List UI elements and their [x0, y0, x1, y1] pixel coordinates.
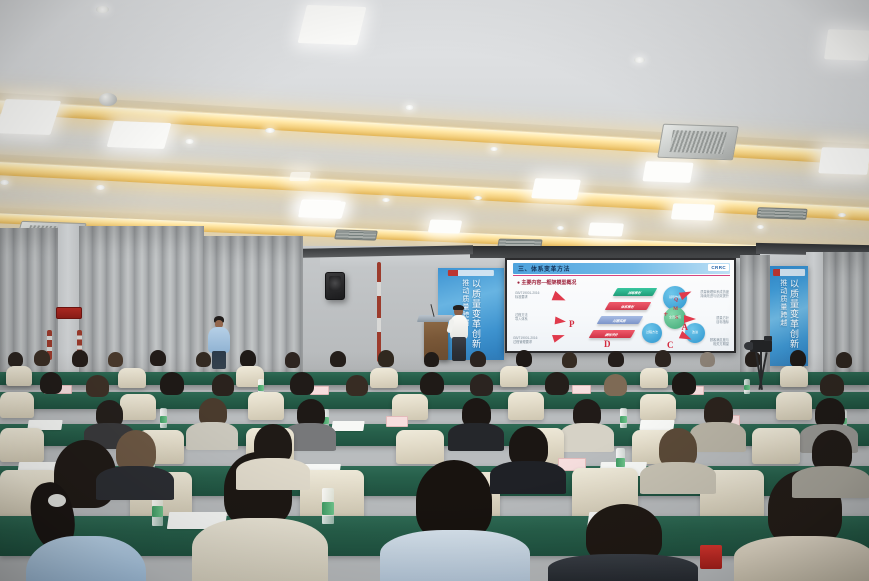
ceiling-panel-light: [824, 29, 869, 61]
ceiling-panel-light: [818, 147, 869, 175]
screen-soffit: [470, 246, 760, 258]
ceiling-panel-light: [428, 219, 463, 233]
presentation-slide: 三、体系变革方法 CRRC ● 主要内容—框架模型概况 GB/T19001-20…: [507, 260, 734, 351]
audience-head: [212, 374, 234, 396]
foreground-person: [548, 504, 698, 581]
ceiling-panel-light: [588, 222, 624, 236]
audience-head: [470, 351, 486, 367]
slide-note-top-right: 质量管理体系成熟度 持续改进与绩效提升: [689, 290, 729, 298]
audience-head: [655, 350, 671, 367]
audience-head: [470, 374, 493, 396]
audience-head: [285, 352, 300, 368]
audience-head: [8, 352, 23, 367]
slide-letter-s: S: [675, 316, 678, 321]
audience-head: [700, 352, 715, 367]
foreground-body: [548, 554, 698, 581]
slide-block-2: 体系策划: [605, 302, 652, 310]
foreground-body: [192, 518, 328, 581]
audience-shoulders: [560, 423, 614, 452]
downlight-icon: [838, 213, 846, 217]
slide-letter-q: Q: [674, 298, 678, 303]
slide-block-3: 过程实施: [597, 316, 644, 324]
audience-head: [545, 372, 569, 395]
chair: [248, 392, 284, 420]
slide-letter-m: M: [673, 307, 678, 312]
audience-head: [40, 372, 62, 394]
conference-hall-photo: 推动质量跨越 以质量变革创新 推动质量跨越 以质量变革创新 三、体系变革方法 C…: [0, 0, 869, 581]
ceiling-panel-light: [289, 172, 311, 181]
lectern-top-surface: [417, 315, 453, 322]
audience-person: [186, 398, 238, 448]
downlight-icon: [474, 196, 482, 200]
ceiling-panel-light: [107, 121, 172, 149]
backdrop-logo: [448, 270, 494, 276]
backdrop-column-2: 以质量变革创新: [471, 279, 481, 358]
red-cup: [700, 545, 722, 569]
audience-head: [346, 375, 368, 396]
ceiling-panel-light: [0, 99, 61, 135]
audience-head: [160, 372, 184, 395]
ceiling-panel-light: [531, 178, 581, 200]
water-bottle: [620, 408, 627, 428]
camera-lens: [744, 342, 753, 350]
chair: [118, 368, 146, 388]
downlight-icon: [96, 6, 109, 13]
downlight-icon: [382, 198, 390, 202]
chair: [500, 366, 528, 387]
chair: [6, 366, 32, 386]
audience-head: [608, 351, 624, 367]
audience-head: [790, 350, 806, 367]
slide-brand-logo: CRRC: [708, 264, 729, 271]
audience-head: [672, 372, 696, 395]
chair: [640, 394, 676, 420]
slide-note-top-left: GB/T19001-2016 标准要求: [515, 291, 551, 299]
water-bottle: [160, 408, 167, 428]
attendee-uniform-shirt: [208, 327, 230, 353]
slide-header-bar: 三、体系变革方法: [513, 263, 730, 274]
slide-circle-3: 过程方法: [642, 323, 662, 343]
red-wall-plaque: [56, 307, 82, 319]
wall-edge-trim: [377, 262, 381, 362]
slide-block-1: 战略策划: [613, 288, 658, 296]
downlight-icon: [490, 147, 498, 151]
audience-head: [240, 350, 256, 367]
camera-viewfinder: [764, 336, 772, 341]
downlight-icon: [96, 185, 105, 190]
audience-person: [236, 424, 310, 482]
ceiling: [0, 0, 869, 262]
audience-shoulders: [792, 466, 869, 498]
wall-mounted-loudspeaker: [325, 272, 345, 300]
name-card: [572, 385, 591, 394]
downlight-icon: [0, 180, 9, 185]
audience-head: [378, 350, 394, 367]
camera-body: [750, 340, 772, 352]
ceiling-panel-light: [298, 5, 367, 45]
slide-note-mid-right: 质量方针 目标指标: [699, 316, 729, 324]
audience-person: [96, 430, 174, 492]
audience-head: [86, 375, 109, 397]
downlight-icon: [405, 105, 414, 110]
ceiling-panel-light: [671, 203, 715, 220]
audience-head: [820, 374, 844, 396]
air-conditioner-unit: [657, 124, 739, 161]
audience-shoulders: [490, 461, 566, 494]
chair: [780, 366, 808, 387]
slide-divider: [513, 275, 730, 276]
ceiling-vent: [756, 207, 807, 220]
slide-arrow-in-1: [552, 291, 568, 305]
chair: [640, 368, 668, 388]
smoke-detector-icon: [99, 93, 117, 106]
downlight-icon: [265, 128, 275, 133]
downlight-icon: [557, 226, 564, 230]
audience-head: [34, 350, 50, 366]
slide-note-mid-left: 过程方法 导入体系: [515, 313, 545, 321]
audience-person: [490, 426, 566, 486]
projection-screen: 三、体系变革方法 CRRC ● 主要内容—框架模型概况 GB/T19001-20…: [505, 258, 736, 353]
slide-letter-p: P: [569, 319, 575, 329]
chair: [370, 368, 398, 388]
audience-person: [640, 428, 716, 486]
downlight-icon: [634, 57, 645, 63]
audience-head: [420, 372, 444, 395]
slide-bullet-heading: ● 主要内容—框架模型概况: [517, 279, 576, 286]
water-bottle: [744, 379, 750, 394]
audience-shoulders: [640, 462, 716, 494]
downlight-icon: [757, 225, 764, 229]
audience-head: [604, 374, 627, 396]
audience-head: [562, 352, 577, 368]
audience-head: [72, 350, 88, 367]
audience-head: [150, 350, 166, 366]
slide-letter-a: A: [682, 322, 689, 332]
chair: [508, 392, 544, 420]
ceiling-panel-light: [298, 200, 346, 219]
slide-note-bottom-left: GB/T19001-2016 过程管理要求: [513, 336, 551, 344]
slide-arrow-in-2: [555, 316, 567, 325]
downlight-icon: [185, 139, 194, 144]
audience-head: [108, 352, 123, 367]
audience-head: [330, 351, 346, 367]
audience-head: [196, 352, 211, 367]
tripod-leg: [760, 352, 762, 388]
name-card: [386, 416, 408, 427]
ceiling-vent: [334, 229, 378, 240]
audience-person: [560, 399, 614, 451]
audience-shoulders: [186, 422, 238, 450]
audience-head: [290, 372, 314, 395]
slide-letter-c: C: [667, 340, 674, 350]
audience-head: [424, 352, 439, 367]
audience-head: [836, 352, 852, 368]
ceiling-panel-light: [642, 161, 693, 183]
audience-head: [516, 350, 532, 367]
foreground-hair-tie: [48, 494, 66, 507]
foreground-body: [380, 530, 530, 581]
slide-letter-d: D: [604, 339, 611, 349]
audience-shoulders: [236, 458, 310, 490]
presenter-hair: [453, 305, 464, 310]
foreground-head: [416, 460, 492, 540]
slide-block-4: 绩效评价: [589, 330, 636, 338]
audience-person: [792, 430, 869, 490]
slide-title: 三、体系变革方法: [518, 264, 570, 273]
handout-paper: [331, 421, 364, 431]
foreground-body: [734, 536, 869, 581]
slide-plus-sign: +: [663, 310, 668, 319]
chair: [0, 392, 34, 418]
slide-arrow-in-3: [552, 331, 566, 342]
right-banner-logo: [773, 269, 805, 276]
chair: [396, 430, 444, 464]
audience-shoulders: [96, 466, 174, 500]
